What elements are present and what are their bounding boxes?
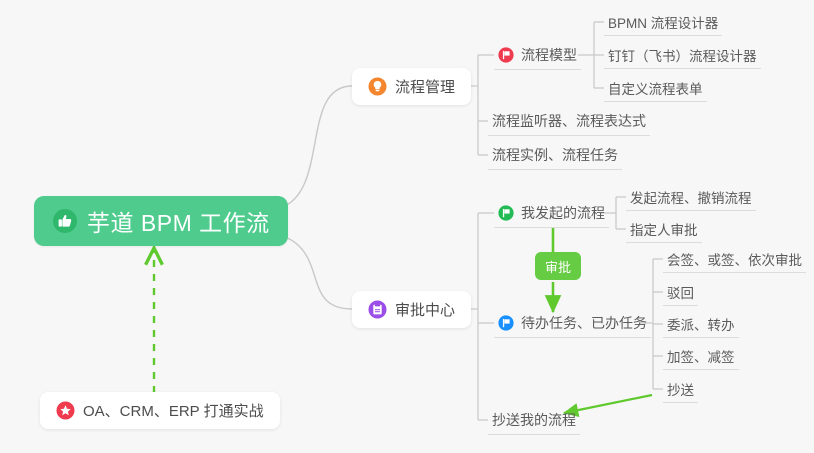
node-process-model[interactable]: 流程模型 <box>494 40 581 70</box>
start-cancel-process-label: 发起流程、撤销流程 <box>630 187 752 207</box>
add-remove-sign-label: 加签、减签 <box>667 346 735 366</box>
mindmap-canvas: 芋道 BPM 工作流 流程管理 流程模型 BPMN 流程设计器 钉钉（飞书）流程… <box>0 0 814 453</box>
node-process-listener[interactable]: 流程监听器、流程表达式 <box>488 106 650 136</box>
lightbulb-icon <box>368 77 387 96</box>
node-todo-done-task[interactable]: 待办任务、已办任务 <box>494 308 651 338</box>
node-integration-practice[interactable]: OA、CRM、ERP 打通实战 <box>40 392 280 429</box>
approval-center-label: 审批中心 <box>395 299 455 320</box>
process-management-label: 流程管理 <box>395 76 455 97</box>
node-approval-center[interactable]: 审批中心 <box>352 291 471 328</box>
approval-tag-label: 审批 <box>545 257 571 276</box>
reject-label: 驳回 <box>667 282 694 302</box>
thumbs-up-icon <box>52 208 78 234</box>
todo-done-task-label: 待办任务、已办任务 <box>521 313 647 333</box>
countersign-label: 会签、或签、依次审批 <box>667 249 802 269</box>
node-start-cancel-process[interactable]: 发起流程、撤销流程 <box>626 183 756 211</box>
cc-label: 抄送 <box>667 379 694 399</box>
my-initiated-process-label: 我发起的流程 <box>521 203 605 223</box>
process-instance-task-label: 流程实例、流程任务 <box>492 145 618 165</box>
flag-icon <box>498 205 514 221</box>
node-dingtalk-feishu-designer[interactable]: 钉钉（飞书）流程设计器 <box>604 41 761 69</box>
link-root-to-approval-center <box>280 235 352 309</box>
delegate-transfer-label: 委派、转办 <box>667 314 735 334</box>
root-label: 芋道 BPM 工作流 <box>87 204 270 238</box>
dingtalk-feishu-designer-label: 钉钉（飞书）流程设计器 <box>608 45 757 65</box>
bpmn-designer-label: BPMN 流程设计器 <box>608 12 718 32</box>
node-cc-to-me-process[interactable]: 抄送我的流程 <box>488 405 580 435</box>
node-custom-process-form[interactable]: 自定义流程表单 <box>604 74 707 102</box>
node-root[interactable]: 芋道 BPM 工作流 <box>34 196 288 246</box>
integration-practice-label: OA、CRM、ERP 打通实战 <box>83 400 264 421</box>
link-root-to-process-management <box>280 86 352 208</box>
star-icon <box>56 401 75 420</box>
assignee-approval-label: 指定人审批 <box>630 219 698 239</box>
node-reject[interactable]: 驳回 <box>663 278 698 306</box>
node-process-management[interactable]: 流程管理 <box>352 68 471 105</box>
flag-icon <box>498 315 514 331</box>
custom-process-form-label: 自定义流程表单 <box>608 78 703 98</box>
clipboard-icon <box>368 300 387 319</box>
cc-to-me-process-label: 抄送我的流程 <box>492 410 576 430</box>
node-my-initiated-process[interactable]: 我发起的流程 <box>494 198 609 228</box>
process-listener-label: 流程监听器、流程表达式 <box>492 111 646 131</box>
node-cc[interactable]: 抄送 <box>663 375 698 403</box>
node-delegate-transfer[interactable]: 委派、转办 <box>663 310 739 338</box>
node-add-remove-sign[interactable]: 加签、减签 <box>663 342 739 370</box>
node-countersign[interactable]: 会签、或签、依次审批 <box>663 245 806 273</box>
flag-icon <box>498 47 514 63</box>
node-assignee-approval[interactable]: 指定人审批 <box>626 215 702 243</box>
annotation-approval-tag[interactable]: 审批 <box>535 252 581 280</box>
node-bpmn-designer[interactable]: BPMN 流程设计器 <box>604 8 722 36</box>
node-process-instance-task[interactable]: 流程实例、流程任务 <box>488 140 622 170</box>
process-model-label: 流程模型 <box>521 45 577 65</box>
